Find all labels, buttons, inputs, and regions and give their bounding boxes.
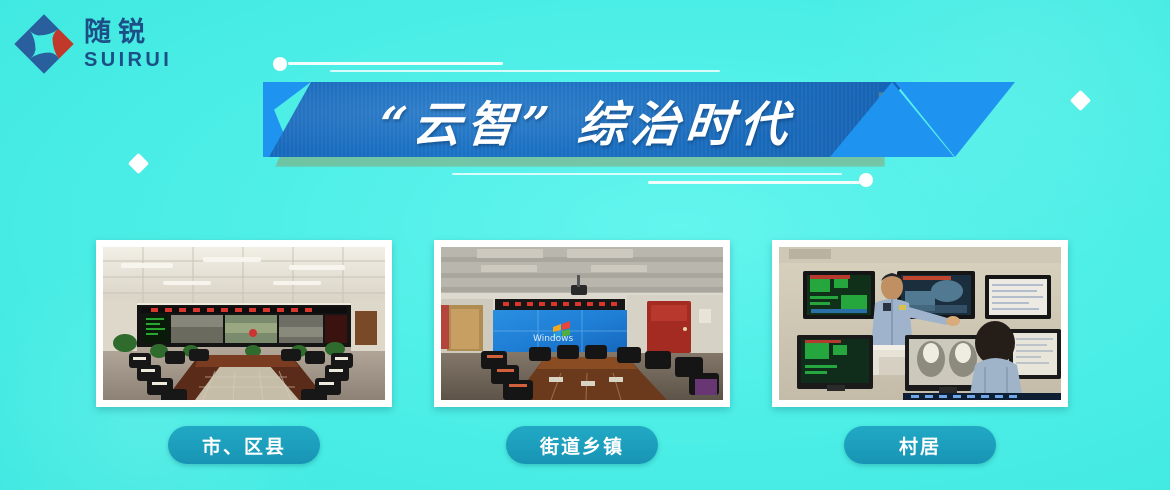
page-title: “云智” 综治时代 [351,85,797,155]
card-street-township[interactable]: Windows [434,240,730,407]
city-district-command-center-photo [103,247,385,400]
photo-frame [772,240,1068,407]
decor-triangle-bright-up [830,82,954,157]
photo-frame [96,240,392,407]
card-label-street-township[interactable]: 街道乡镇 [506,426,658,464]
brand-name-en: SUIRUI [84,50,172,70]
suirui-pinwheel-logo-icon [14,14,74,74]
level-cards: 市、区县 [0,240,1170,490]
decor-diamond-left [128,153,149,174]
card-label-city-district[interactable]: 市、区县 [168,426,320,464]
card-label-village[interactable]: 村居 [844,426,996,464]
photo-frame: Windows [434,240,730,407]
street-township-meeting-room-photo: Windows [441,247,723,400]
title-banner-group: “云智” 综治时代 [255,52,955,192]
title-banner: “云智” 综治时代 [269,82,879,157]
brand-logo-text: 随锐 SUIRUI [84,19,172,70]
card-village[interactable]: 村居 [772,240,1068,407]
brand-logo[interactable]: 随锐 SUIRUI [14,14,172,74]
decor-diamond-right [1070,90,1091,111]
slide-stage: 随锐 SUIRUI “云智” 综治时代 [0,0,1170,490]
brand-name-cn: 随锐 [84,19,172,46]
svg-text:Windows: Windows [533,334,573,344]
village-monitoring-room-photo [779,247,1061,400]
card-city-district[interactable]: 市、区县 [96,240,392,407]
